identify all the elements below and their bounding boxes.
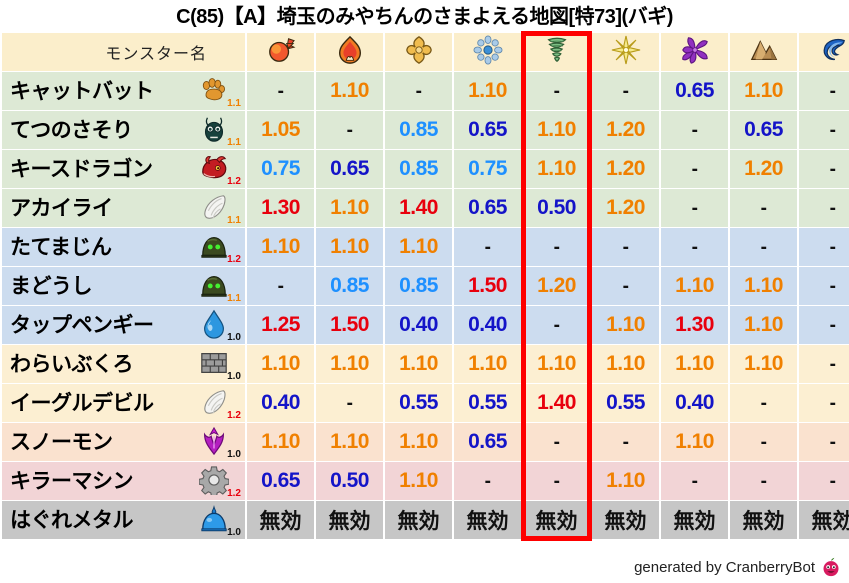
resistance-cell: 0.65 bbox=[454, 423, 521, 461]
resistance-value: 0.85 bbox=[399, 118, 438, 141]
column-header-hyado[interactable] bbox=[454, 33, 521, 71]
resistance-cell: 1.10 bbox=[247, 423, 314, 461]
resistance-value: 0.65 bbox=[468, 430, 507, 453]
column-header-monster-name: モンスター名 bbox=[2, 33, 245, 71]
monster-version-label: 1.0 bbox=[227, 528, 241, 538]
resistance-value: 1.20 bbox=[606, 157, 645, 180]
resistance-cell: 1.10 bbox=[592, 345, 659, 383]
resistance-cell: - bbox=[730, 423, 797, 461]
resistance-value: 1.25 bbox=[261, 313, 300, 336]
resistance-cell: - bbox=[523, 228, 590, 266]
resistance-table: モンスター名 キャットバット1.1-1.10-1.10--0.651.10-てつ… bbox=[0, 32, 849, 540]
column-header-jibaria[interactable] bbox=[730, 33, 797, 71]
monster-name-label: たてまじん bbox=[10, 237, 111, 258]
explosion-icon bbox=[404, 35, 434, 65]
resistance-value: 1.10 bbox=[537, 118, 576, 141]
wave-icon bbox=[818, 35, 848, 65]
resistance-cell: 0.65 bbox=[316, 150, 383, 188]
resistance-cell: 0.85 bbox=[385, 111, 452, 149]
monster-name-label: はぐれメタル bbox=[10, 510, 133, 531]
resistance-cell: - bbox=[730, 462, 797, 500]
resistance-cell: 1.30 bbox=[247, 189, 314, 227]
resistance-cell: 1.10 bbox=[385, 345, 452, 383]
resistance-cell: - bbox=[592, 228, 659, 266]
resistance-none: - bbox=[554, 315, 560, 336]
dragon-icon bbox=[199, 153, 227, 181]
resistance-none: - bbox=[761, 198, 767, 219]
monster-version-label: 1.2 bbox=[227, 411, 241, 421]
table-row: キラーマシン1.20.650.501.10--1.10--- bbox=[2, 462, 849, 500]
monster-name-label: キャットバット bbox=[10, 81, 154, 102]
slime-blue-icon bbox=[199, 504, 227, 532]
resistance-value: 1.20 bbox=[744, 157, 783, 180]
resistance-value: 0.65 bbox=[330, 157, 369, 180]
resistance-cell: - bbox=[661, 150, 728, 188]
resistance-cell: 1.05 bbox=[247, 111, 314, 149]
resistance-cell: 1.10 bbox=[316, 189, 383, 227]
resistance-cell: 1.10 bbox=[730, 267, 797, 305]
monster-name-label: キラーマシン bbox=[10, 471, 133, 492]
resistance-none: - bbox=[554, 237, 560, 258]
resistance-cell: - bbox=[454, 228, 521, 266]
resistance-value: 1.10 bbox=[261, 235, 300, 258]
resistance-value: 0.55 bbox=[399, 391, 438, 414]
table-row: まどうし1.1-0.850.851.501.20-1.101.10- bbox=[2, 267, 849, 305]
resistance-cell: - bbox=[661, 462, 728, 500]
resistance-value: 1.40 bbox=[537, 391, 576, 414]
resistance-cell: 1.10 bbox=[523, 150, 590, 188]
monster-type-wrap: 1.0 bbox=[197, 501, 241, 539]
resistance-value: 0.40 bbox=[399, 313, 438, 336]
table-row: タップペンギー1.01.251.500.400.40-1.101.301.10- bbox=[2, 306, 849, 344]
resistance-cell: 無効 bbox=[316, 501, 383, 539]
monster-name-cell[interactable]: アカイライ1.1 bbox=[2, 189, 245, 227]
resistance-cell: 無効 bbox=[454, 501, 521, 539]
resistance-value: 1.50 bbox=[468, 274, 507, 297]
table-row: キースドラゴン1.20.750.650.850.751.101.20-1.20- bbox=[2, 150, 849, 188]
resistance-cell: 無効 bbox=[385, 501, 452, 539]
resistance-cell: 1.20 bbox=[592, 150, 659, 188]
table-row: はぐれメタル1.0無効無効無効無効無効無効無効無効無効 bbox=[2, 501, 849, 539]
resistance-none: - bbox=[830, 354, 836, 375]
resistance-value: 1.10 bbox=[744, 274, 783, 297]
monster-type-wrap: 1.2 bbox=[197, 228, 241, 266]
resistance-value: 1.10 bbox=[330, 79, 369, 102]
resistance-cell: - bbox=[799, 228, 849, 266]
resistance-none: - bbox=[830, 393, 836, 414]
resistance-cell: - bbox=[799, 150, 849, 188]
resistance-cell: 1.10 bbox=[316, 345, 383, 383]
resistance-immune: 無効 bbox=[467, 510, 509, 533]
resistance-cell: - bbox=[247, 267, 314, 305]
page-title: C(85)【A】埼玉のみやちんのさまよえる地図[特73](バギ) bbox=[0, 0, 849, 32]
resistance-cell: 1.10 bbox=[523, 345, 590, 383]
resistance-cell: - bbox=[316, 384, 383, 422]
resistance-none: - bbox=[830, 471, 836, 492]
monster-type-wrap: 1.1 bbox=[197, 189, 241, 227]
monster-type-wrap: 1.0 bbox=[197, 306, 241, 344]
resistance-none: - bbox=[830, 159, 836, 180]
fireball-icon bbox=[266, 35, 296, 65]
resistance-cell: - bbox=[799, 345, 849, 383]
resistance-cell: 0.55 bbox=[592, 384, 659, 422]
table-row: アカイライ1.11.301.101.400.650.501.20--- bbox=[2, 189, 849, 227]
resistance-cell: 1.10 bbox=[592, 306, 659, 344]
resistance-value: 1.10 bbox=[261, 430, 300, 453]
monster-version-label: 1.2 bbox=[227, 489, 241, 499]
resistance-none: - bbox=[692, 471, 698, 492]
resistance-cell: - bbox=[592, 423, 659, 461]
resistance-value: 1.10 bbox=[330, 196, 369, 219]
resistance-value: 1.10 bbox=[330, 235, 369, 258]
resistance-cell: - bbox=[316, 111, 383, 149]
resistance-cell: - bbox=[799, 384, 849, 422]
resistance-value: 0.55 bbox=[606, 391, 645, 414]
resistance-cell: 0.75 bbox=[454, 150, 521, 188]
resistance-cell: - bbox=[523, 462, 590, 500]
monster-version-label: 1.0 bbox=[227, 372, 241, 382]
monster-name-label: スノーモン bbox=[10, 432, 113, 453]
resistance-cell: 無効 bbox=[247, 501, 314, 539]
resistance-cell: 1.10 bbox=[247, 345, 314, 383]
resistance-cell: 1.10 bbox=[247, 228, 314, 266]
monster-type-wrap: 1.1 bbox=[197, 267, 241, 305]
resistance-value: 1.10 bbox=[261, 352, 300, 375]
resistance-none: - bbox=[278, 276, 284, 297]
waterdrop-icon bbox=[199, 309, 227, 337]
resistance-cell: 0.50 bbox=[316, 462, 383, 500]
resistance-value: 0.85 bbox=[399, 157, 438, 180]
resistance-cell: 0.75 bbox=[247, 150, 314, 188]
resistance-immune: 無効 bbox=[674, 510, 716, 533]
mountain-icon bbox=[749, 35, 779, 65]
resistance-cell: 1.20 bbox=[730, 150, 797, 188]
monster-name-cell[interactable]: タップペンギー1.0 bbox=[2, 306, 245, 344]
resistance-cell: 1.10 bbox=[316, 228, 383, 266]
monster-name-label: キースドラゴン bbox=[10, 159, 152, 180]
monster-name-label: てつのさそり bbox=[10, 120, 133, 141]
resistance-value: 1.30 bbox=[675, 313, 714, 336]
monster-name-label: わらいぶくろ bbox=[10, 354, 133, 375]
monster-name-cell[interactable]: たてまじん1.2 bbox=[2, 228, 245, 266]
table-body: キャットバット1.1-1.10-1.10--0.651.10-てつのさそり1.1… bbox=[2, 72, 849, 539]
monster-name-label: まどうし bbox=[10, 276, 92, 297]
resistance-cell: - bbox=[385, 72, 452, 110]
trident-icon bbox=[199, 426, 227, 454]
resistance-none: - bbox=[830, 432, 836, 453]
resistance-cell: 0.65 bbox=[661, 72, 728, 110]
resistance-none: - bbox=[692, 159, 698, 180]
column-header-bagi[interactable] bbox=[523, 33, 590, 71]
resistance-cell: 無効 bbox=[799, 501, 849, 539]
resistance-value: 1.10 bbox=[399, 430, 438, 453]
resistance-none: - bbox=[830, 276, 836, 297]
pinwheel-icon bbox=[680, 35, 710, 65]
resistance-none: - bbox=[830, 120, 836, 141]
resistance-value: 1.05 bbox=[261, 118, 300, 141]
resistance-cell: 1.10 bbox=[385, 462, 452, 500]
resistance-value: 1.10 bbox=[675, 352, 714, 375]
resistance-cell: 0.85 bbox=[385, 267, 452, 305]
resistance-none: - bbox=[485, 471, 491, 492]
slime-dark-icon bbox=[199, 231, 227, 259]
resistance-value: 1.10 bbox=[606, 469, 645, 492]
monster-version-label: 1.0 bbox=[227, 333, 241, 343]
resistance-value: 0.40 bbox=[468, 313, 507, 336]
monster-name-label: タップペンギー bbox=[10, 315, 154, 336]
resistance-value: 1.50 bbox=[330, 313, 369, 336]
resistance-value: 0.65 bbox=[675, 79, 714, 102]
resistance-cell: - bbox=[247, 72, 314, 110]
resistance-value: 1.10 bbox=[606, 313, 645, 336]
resistance-cell: - bbox=[661, 189, 728, 227]
resistance-cell: 1.30 bbox=[661, 306, 728, 344]
resistance-cell: 1.10 bbox=[592, 462, 659, 500]
resistance-none: - bbox=[830, 198, 836, 219]
monster-version-label: 1.1 bbox=[227, 138, 241, 148]
resistance-cell: 0.55 bbox=[385, 384, 452, 422]
table-row: キャットバット1.1-1.10-1.10--0.651.10- bbox=[2, 72, 849, 110]
resistance-none: - bbox=[692, 198, 698, 219]
flame-icon bbox=[335, 35, 365, 65]
resistance-immune: 無効 bbox=[260, 510, 302, 533]
resistance-value: 1.40 bbox=[399, 196, 438, 219]
resistance-value: 0.65 bbox=[468, 196, 507, 219]
resistance-cell: - bbox=[523, 423, 590, 461]
resistance-value: 1.10 bbox=[744, 352, 783, 375]
resistance-cell: 1.10 bbox=[661, 267, 728, 305]
monster-name-cell[interactable]: キャットバット1.1 bbox=[2, 72, 245, 110]
monster-version-label: 1.2 bbox=[227, 177, 241, 187]
resistance-cell: 1.40 bbox=[385, 189, 452, 227]
table-row: たてまじん1.21.101.101.10------ bbox=[2, 228, 849, 266]
resistance-cell: 0.40 bbox=[661, 384, 728, 422]
resistance-none: - bbox=[347, 393, 353, 414]
resistance-value: 0.50 bbox=[330, 469, 369, 492]
resistance-none: - bbox=[554, 81, 560, 102]
monster-name-label: イーグルデビル bbox=[10, 393, 154, 414]
resistance-immune: 無効 bbox=[812, 510, 849, 533]
resistance-cell: - bbox=[661, 228, 728, 266]
brick-icon bbox=[199, 348, 227, 376]
resistance-value: 1.10 bbox=[399, 235, 438, 258]
resistance-cell: 1.10 bbox=[661, 345, 728, 383]
resistance-value: 0.85 bbox=[399, 274, 438, 297]
resistance-value: 0.65 bbox=[468, 118, 507, 141]
column-header-doruma[interactable] bbox=[661, 33, 728, 71]
resistance-immune: 無効 bbox=[743, 510, 785, 533]
monster-name-cell[interactable]: キースドラゴン1.2 bbox=[2, 150, 245, 188]
gear-icon bbox=[199, 465, 227, 493]
resistance-cell: 0.65 bbox=[454, 189, 521, 227]
resistance-none: - bbox=[623, 237, 629, 258]
resistance-value: 1.10 bbox=[330, 352, 369, 375]
table-row: てつのさそり1.11.05-0.850.651.101.20-0.65- bbox=[2, 111, 849, 149]
resistance-cell: 1.10 bbox=[385, 423, 452, 461]
table-row: わらいぶくろ1.01.101.101.101.101.101.101.101.1… bbox=[2, 345, 849, 383]
resistance-cell: 1.10 bbox=[454, 345, 521, 383]
resistance-cell: - bbox=[799, 462, 849, 500]
resistance-value: 0.40 bbox=[261, 391, 300, 414]
resistance-value: 1.20 bbox=[606, 196, 645, 219]
monster-name-cell[interactable]: はぐれメタル1.0 bbox=[2, 501, 245, 539]
resistance-cell: 0.40 bbox=[247, 384, 314, 422]
resistance-cell: 無効 bbox=[592, 501, 659, 539]
resistance-value: 1.20 bbox=[606, 118, 645, 141]
resistance-value: 0.55 bbox=[468, 391, 507, 414]
resistance-value: 0.50 bbox=[537, 196, 576, 219]
resistance-none: - bbox=[623, 432, 629, 453]
monster-type-wrap: 1.1 bbox=[197, 72, 241, 110]
monster-name-cell[interactable]: わらいぶくろ1.0 bbox=[2, 345, 245, 383]
wing-icon bbox=[199, 387, 227, 415]
resistance-cell: - bbox=[799, 72, 849, 110]
resistance-cell: 0.65 bbox=[730, 111, 797, 149]
header-row: モンスター名 bbox=[2, 33, 849, 71]
resistance-value: 1.10 bbox=[468, 352, 507, 375]
resistance-value: 1.10 bbox=[744, 79, 783, 102]
resistance-value: 1.10 bbox=[399, 352, 438, 375]
resistance-value: 0.40 bbox=[675, 391, 714, 414]
snowflake-icon bbox=[473, 35, 503, 65]
resistance-cell: - bbox=[661, 111, 728, 149]
monster-version-label: 1.2 bbox=[227, 255, 241, 265]
footer: generated by CranberryBot bbox=[634, 557, 841, 577]
monster-name-cell[interactable]: まどうし1.1 bbox=[2, 267, 245, 305]
resistance-cell: 1.10 bbox=[730, 345, 797, 383]
resistance-value: 1.10 bbox=[675, 274, 714, 297]
resistance-cell: - bbox=[592, 72, 659, 110]
slime-dark-icon bbox=[199, 270, 227, 298]
resistance-none: - bbox=[416, 81, 422, 102]
resistance-none: - bbox=[623, 276, 629, 297]
resistance-cell: 1.20 bbox=[592, 189, 659, 227]
resistance-cell: 1.10 bbox=[316, 72, 383, 110]
monster-type-wrap: 1.2 bbox=[197, 150, 241, 188]
resistance-cell: 0.40 bbox=[385, 306, 452, 344]
tornado-icon bbox=[542, 35, 572, 65]
paw-icon bbox=[199, 75, 227, 103]
monster-name-cell[interactable]: スノーモン1.0 bbox=[2, 423, 245, 461]
footer-label: generated by CranberryBot bbox=[634, 559, 815, 576]
resistance-none: - bbox=[692, 120, 698, 141]
resistance-cell: 無効 bbox=[523, 501, 590, 539]
monster-version-label: 1.0 bbox=[227, 450, 241, 460]
monster-type-wrap: 1.0 bbox=[197, 423, 241, 461]
resistance-cell: 1.25 bbox=[247, 306, 314, 344]
monster-type-wrap: 1.2 bbox=[197, 384, 241, 422]
resistance-cell: 0.85 bbox=[316, 267, 383, 305]
resistance-value: 0.75 bbox=[261, 157, 300, 180]
resistance-cell: - bbox=[799, 189, 849, 227]
resistance-cell: 0.40 bbox=[454, 306, 521, 344]
resistance-cell: 1.10 bbox=[730, 72, 797, 110]
resistance-cell: 1.10 bbox=[454, 72, 521, 110]
column-header-dein[interactable] bbox=[592, 33, 659, 71]
resistance-immune: 無効 bbox=[398, 510, 440, 533]
resistance-cell: 0.65 bbox=[247, 462, 314, 500]
resistance-none: - bbox=[692, 237, 698, 258]
resistance-value: 1.20 bbox=[537, 274, 576, 297]
resistance-none: - bbox=[278, 81, 284, 102]
resistance-cell: 0.55 bbox=[454, 384, 521, 422]
resistance-none: - bbox=[554, 432, 560, 453]
resistance-cell: 1.10 bbox=[661, 423, 728, 461]
table-header: モンスター名 bbox=[2, 33, 849, 71]
resistance-cell: 1.10 bbox=[316, 423, 383, 461]
monster-name-cell[interactable]: キラーマシン1.2 bbox=[2, 462, 245, 500]
monster-version-label: 1.1 bbox=[227, 99, 241, 109]
resistance-cell: 1.10 bbox=[523, 111, 590, 149]
resistance-cell: 無効 bbox=[661, 501, 728, 539]
resistance-immune: 無効 bbox=[605, 510, 647, 533]
resistance-cell: - bbox=[799, 111, 849, 149]
resistance-value: 1.10 bbox=[537, 352, 576, 375]
resistance-value: 1.10 bbox=[675, 430, 714, 453]
resistance-cell: 0.65 bbox=[454, 111, 521, 149]
cranberry-icon bbox=[821, 557, 841, 577]
column-header-mera[interactable] bbox=[247, 33, 314, 71]
resistance-cell: - bbox=[592, 267, 659, 305]
resistance-cell: - bbox=[730, 384, 797, 422]
resistance-immune: 無効 bbox=[536, 510, 578, 533]
resistance-value: 0.75 bbox=[468, 157, 507, 180]
monster-version-label: 1.1 bbox=[227, 294, 241, 304]
monster-type-wrap: 1.1 bbox=[197, 111, 241, 149]
column-header-medoroa[interactable] bbox=[799, 33, 849, 71]
resistance-cell: 1.10 bbox=[385, 228, 452, 266]
resistance-cell: 0.85 bbox=[385, 150, 452, 188]
resistance-none: - bbox=[761, 432, 767, 453]
resistance-cell: - bbox=[799, 267, 849, 305]
resistance-none: - bbox=[830, 81, 836, 102]
monster-name-cell[interactable]: イーグルデビル1.2 bbox=[2, 384, 245, 422]
resistance-value: 1.10 bbox=[330, 430, 369, 453]
monster-version-label: 1.1 bbox=[227, 216, 241, 226]
monster-name-cell[interactable]: てつのさそり1.1 bbox=[2, 111, 245, 149]
resistance-cell: 1.50 bbox=[454, 267, 521, 305]
resistance-value: 0.85 bbox=[330, 274, 369, 297]
monster-type-wrap: 1.0 bbox=[197, 345, 241, 383]
resistance-cell: 1.10 bbox=[730, 306, 797, 344]
resistance-cell: - bbox=[730, 228, 797, 266]
resistance-value: 1.30 bbox=[261, 196, 300, 219]
resistance-cell: 0.50 bbox=[523, 189, 590, 227]
resistance-cell: - bbox=[523, 72, 590, 110]
resistance-none: - bbox=[554, 471, 560, 492]
resistance-value: 0.65 bbox=[744, 118, 783, 141]
resistance-value: 1.10 bbox=[399, 469, 438, 492]
resistance-cell: 1.50 bbox=[316, 306, 383, 344]
resistance-cell: - bbox=[799, 306, 849, 344]
resistance-value: 1.10 bbox=[606, 352, 645, 375]
table-row: イーグルデビル1.20.40-0.550.551.400.550.40-- bbox=[2, 384, 849, 422]
resistance-none: - bbox=[623, 81, 629, 102]
column-header-io[interactable] bbox=[385, 33, 452, 71]
resistance-immune: 無効 bbox=[329, 510, 371, 533]
column-header-gira[interactable] bbox=[316, 33, 383, 71]
resistance-none: - bbox=[761, 471, 767, 492]
resistance-value: 1.10 bbox=[537, 157, 576, 180]
resistance-cell: 無効 bbox=[730, 501, 797, 539]
starburst-icon bbox=[611, 35, 641, 65]
resistance-table-wrap: モンスター名 キャットバット1.1-1.10-1.10--0.651.10-てつ… bbox=[0, 32, 849, 540]
resistance-cell: 1.20 bbox=[523, 267, 590, 305]
resistance-value: 1.10 bbox=[744, 313, 783, 336]
monster-type-wrap: 1.2 bbox=[197, 462, 241, 500]
resistance-cell: - bbox=[730, 189, 797, 227]
resistance-none: - bbox=[347, 120, 353, 141]
